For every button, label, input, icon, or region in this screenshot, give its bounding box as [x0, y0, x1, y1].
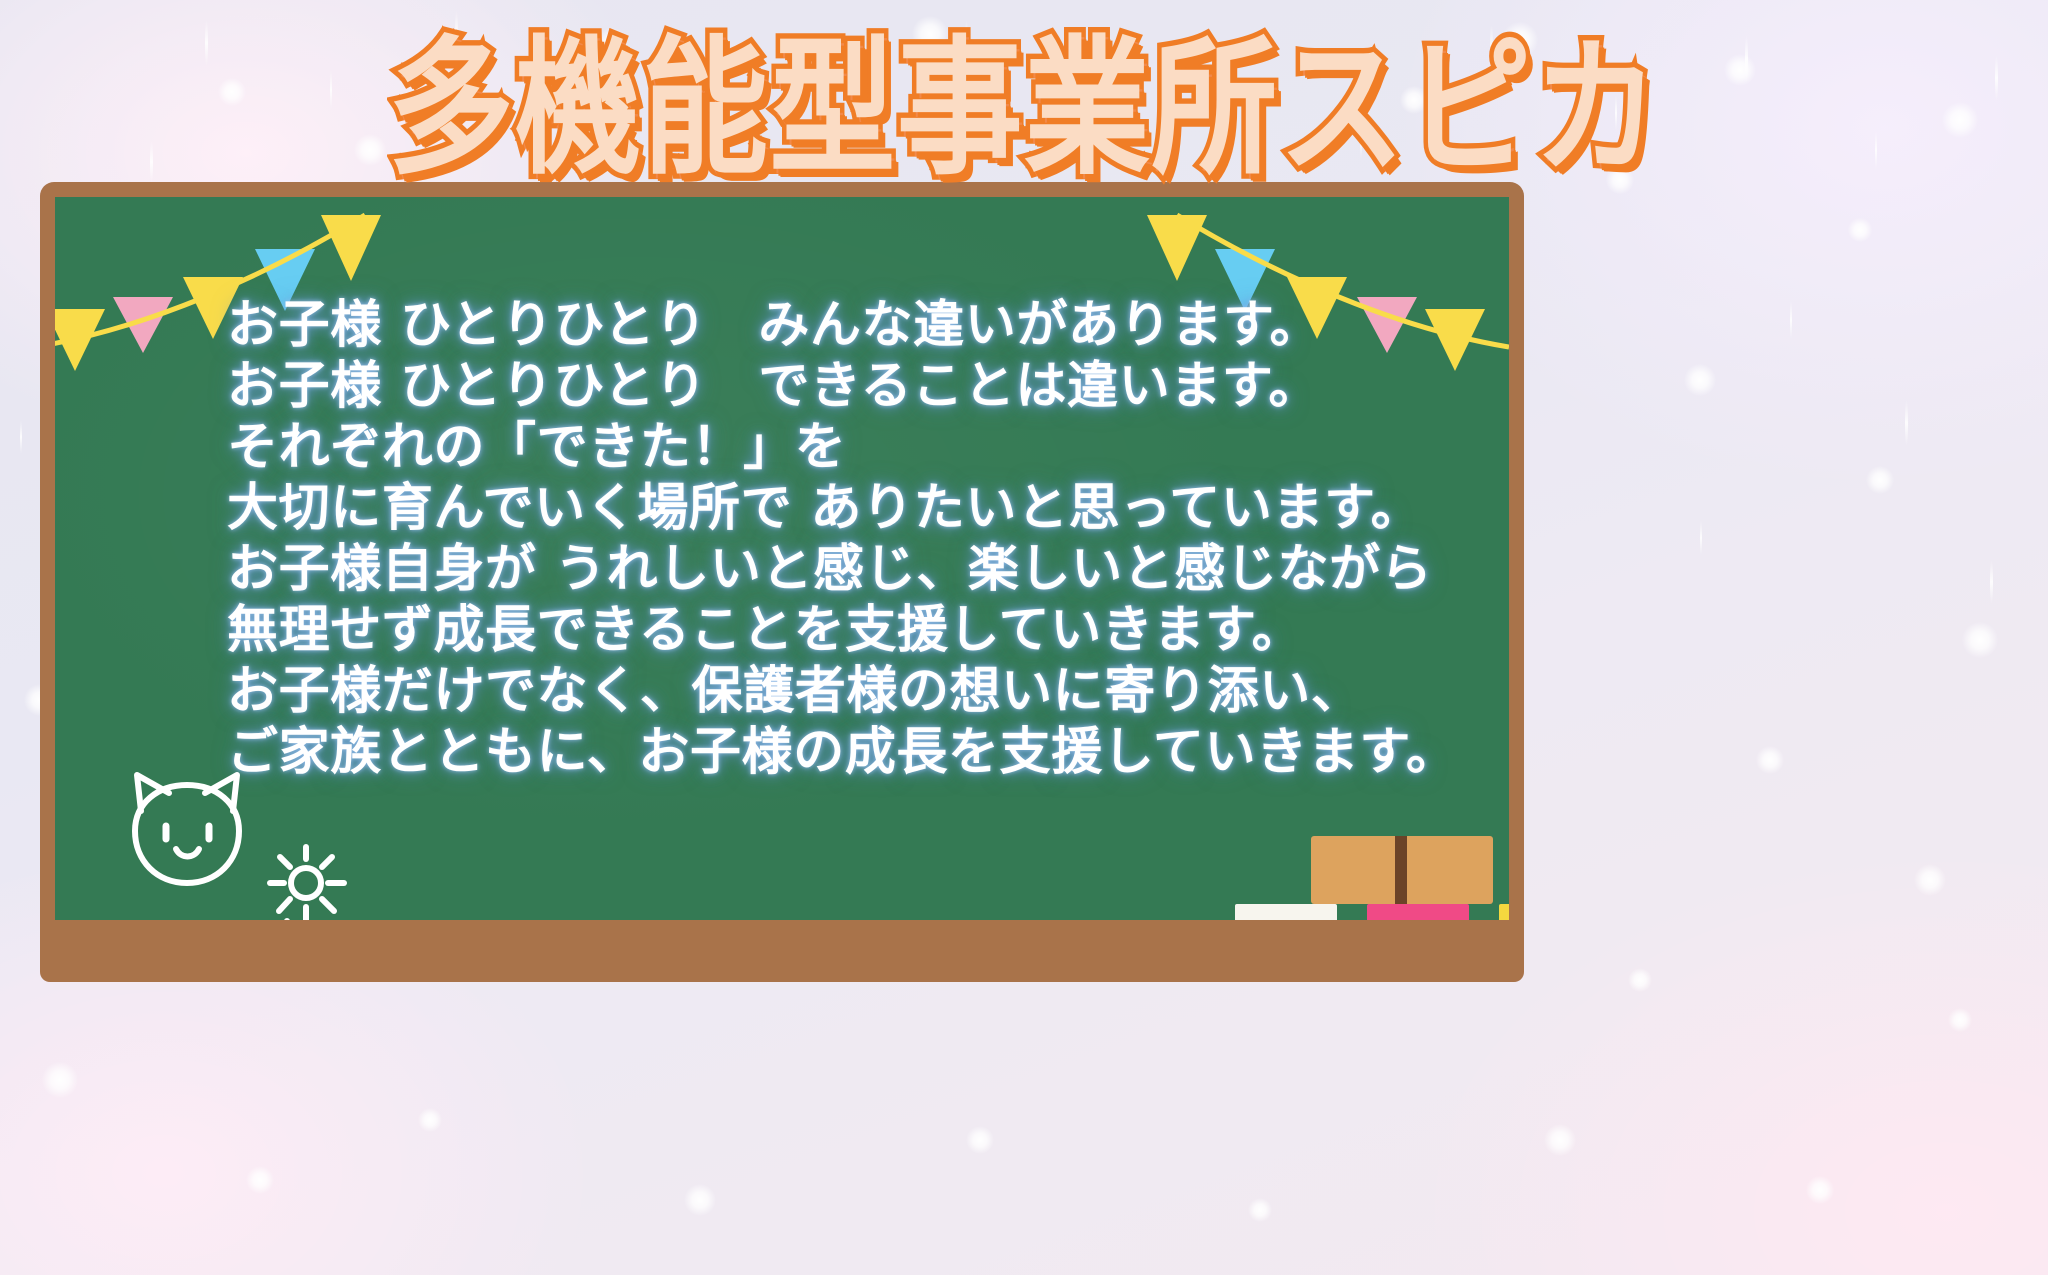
sparkle	[246, 1166, 274, 1194]
light-streak	[1905, 400, 1908, 446]
sparkle	[418, 1108, 442, 1132]
sparkle	[1684, 364, 1716, 396]
chalkboard-line: 大切に育んでいく場所で ありたいと思っています。	[227, 478, 1509, 539]
sparkle	[1948, 1008, 1972, 1032]
sparkle	[1914, 864, 1946, 896]
chalkboard-tray	[40, 920, 1524, 982]
page-title: 多機能型事業所スピカ	[388, 0, 1661, 203]
sparkle	[1628, 968, 1652, 992]
chalkboard-line: ご家族とともに、お子様の成長を支援していきます。	[227, 722, 1509, 783]
chalkboard-frame: お子様 ひとりひとり みんな違いがあります。お子様 ひとりひとり できることは違…	[40, 182, 1524, 942]
sparkle	[966, 1126, 994, 1154]
sparkle	[1248, 1198, 1272, 1222]
chalkboard-line: お子様だけでなく、保護者様の想いに寄り添い、	[227, 661, 1509, 722]
light-streak	[20, 420, 22, 454]
cat-face-icon	[117, 769, 257, 904]
sparkle	[1866, 466, 1894, 494]
chalkboard-surface: お子様 ひとりひとり みんな違いがあります。お子様 ひとりひとり できることは違…	[55, 197, 1509, 942]
sparkle	[42, 1062, 78, 1098]
light-streak	[1790, 300, 1792, 340]
chalkboard-line: それぞれの「できた！」を	[227, 417, 1509, 478]
chalkboard-line: お子様 ひとりひとり みんな違いがあります。	[227, 295, 1509, 356]
sparkle	[1848, 218, 1872, 242]
sparkle	[1806, 1176, 1834, 1204]
chalkboard-message: お子様 ひとりひとり みんな違いがあります。お子様 ひとりひとり できることは違…	[227, 295, 1509, 783]
eraser-icon	[1311, 836, 1493, 904]
sparkle	[1756, 746, 1784, 774]
sparkle	[1962, 622, 1998, 658]
chalkboard-line: お子様 ひとりひとり できることは違います。	[227, 356, 1509, 417]
sparkle	[1544, 1124, 1576, 1156]
page-title-container: 多機能型事業所スピカ	[0, 6, 2048, 186]
light-streak	[1700, 520, 1702, 556]
chalkboard-line: お子様自身が うれしいと感じ、楽しいと感じながら	[227, 539, 1509, 600]
sun-icon	[260, 837, 352, 933]
light-streak	[1990, 560, 1993, 604]
sparkle	[684, 1184, 716, 1216]
chalkboard-line: 無理せず成長できることを支援していきます。	[227, 600, 1509, 661]
